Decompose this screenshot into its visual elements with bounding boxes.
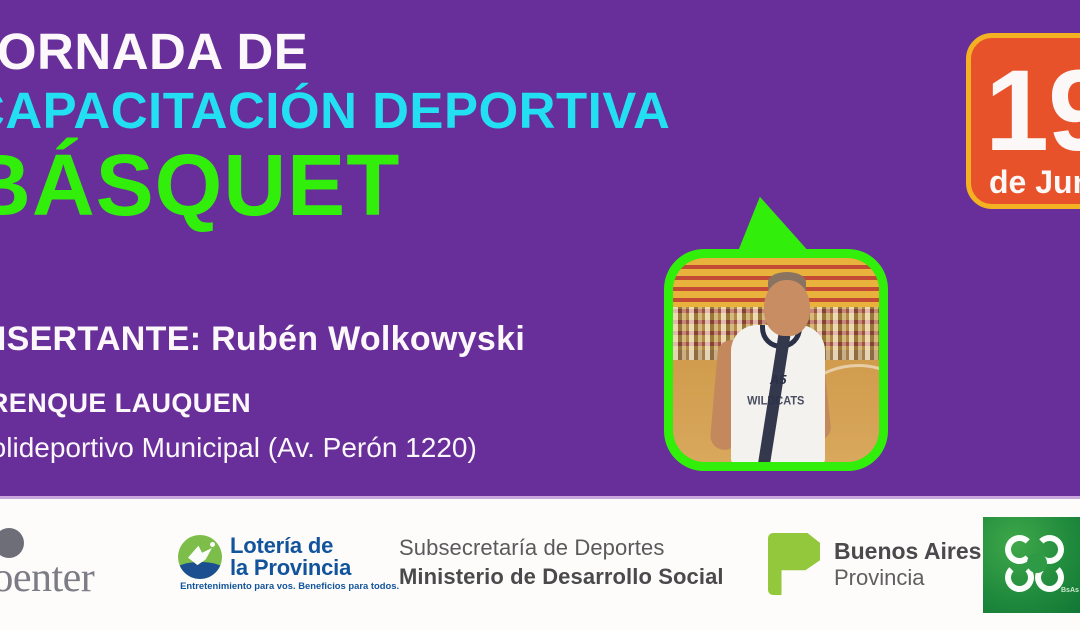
proenter-wordmark: Proenter — [0, 554, 94, 602]
city-label: TRENQUE LAUQUEN — [0, 388, 251, 419]
buenos-aires-flag-icon — [768, 533, 820, 595]
date-badge: 19 de Junio — [966, 33, 1080, 209]
headline-line-2: CAPACITACIÓN DEPORTIVA — [0, 85, 868, 136]
photo-jersey-logo: A5 — [770, 372, 787, 387]
hero-section: JORNADA DE CAPACITACIÓN DEPORTIVA BÁSQUE… — [0, 0, 1080, 496]
logo-buenos-aires-provincia: Buenos Aires Provincia — [768, 532, 978, 598]
photo-player-head — [764, 280, 810, 336]
clover-center-icon — [1027, 553, 1047, 573]
buenos-aires-line-1: Buenos Aires — [834, 538, 981, 565]
logo-green-square: BsAs — [983, 517, 1080, 613]
buenos-aires-line-2: Provincia — [834, 565, 924, 591]
venue-label: Polideportivo Municipal (Av. Perón 1220) — [0, 432, 477, 464]
logo-ministerio-desarrollo-social: Subsecretaría de Deportes Ministerio de … — [399, 535, 739, 590]
logo-proenter: Proenter — [0, 528, 146, 598]
poster-canvas: JORNADA DE CAPACITACIÓN DEPORTIVA BÁSQUE… — [0, 0, 1080, 630]
loteria-tagline: Entretenimiento para vos. Beneficios par… — [180, 581, 399, 592]
logo-loteria-de-la-provincia: Lotería de la Provincia Entretenimiento … — [178, 534, 368, 596]
headline-line-1: JORNADA DE — [0, 26, 868, 77]
green-logo-mark: BsAs — [1061, 587, 1079, 594]
photo-frame: A5 WILDCATS — [664, 249, 888, 471]
speaker-line: DISERTANTE: Rubén Wolkowyski — [0, 320, 525, 359]
date-day: 19 — [985, 40, 1080, 184]
loteria-emblem-icon — [178, 535, 222, 579]
loteria-spark-icon — [210, 542, 215, 547]
speaker-photo-bubble: A5 WILDCATS — [660, 196, 890, 478]
footer-divider — [0, 496, 1080, 499]
date-month: de Junio — [989, 164, 1080, 201]
photo-jersey-text: WILDCATS — [747, 394, 804, 407]
loteria-water-shape — [178, 562, 222, 579]
ministerio-line-1: Subsecretaría de Deportes — [399, 535, 739, 561]
loteria-line-2: la Provincia — [230, 555, 351, 581]
photo-image: A5 WILDCATS — [673, 258, 879, 462]
ministerio-line-2: Ministerio de Desarrollo Social — [399, 564, 739, 590]
